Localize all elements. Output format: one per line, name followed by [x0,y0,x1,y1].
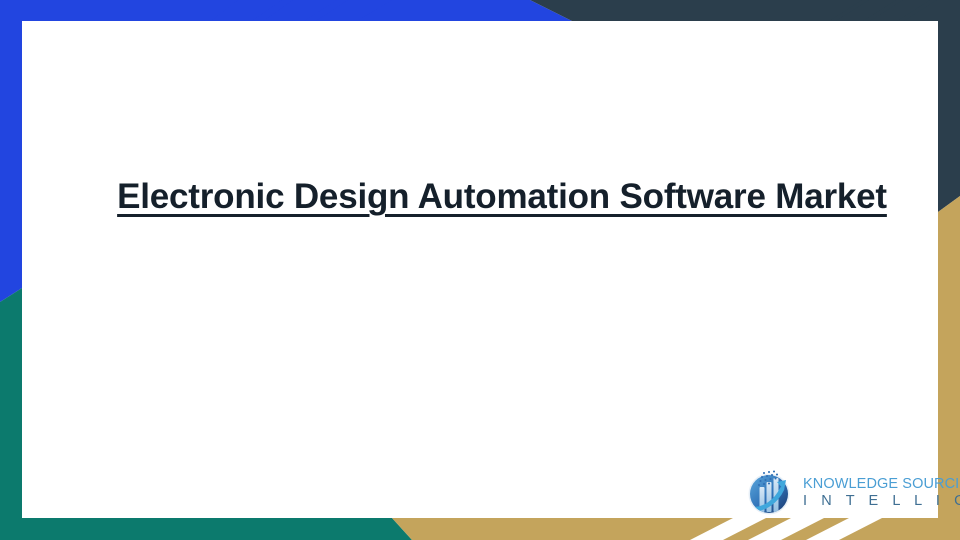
top-left-blue-band [0,0,572,21]
left-teal-band [0,288,22,540]
bottom-right-gold-stripes [690,518,882,540]
bottom-left-teal-band [0,518,412,540]
slide-canvas: Electronic Design Automation Software Ma… [0,0,960,540]
right-navy-band [938,0,960,212]
left-blue-band [0,0,22,302]
logo-text-knowledge-sourcing: KNOWLEDGE SOURCING [803,476,960,493]
title-block: Electronic Design Automation Software Ma… [82,171,922,223]
logo-text-intelligence: I N T E L L I G E N C E [803,493,960,510]
knowledge-sourcing-globe-icon [744,467,794,517]
page-title: Electronic Design Automation Software Ma… [117,177,887,216]
bottom-right-gold-band [392,518,960,540]
content-panel: Electronic Design Automation Software Ma… [22,21,938,518]
logo-wordmark: KNOWLEDGE SOURCING I N T E L L I G E N C… [803,474,960,510]
brand-logo: KNOWLEDGE SOURCING I N T E L L I G E N C… [744,465,956,519]
top-right-navy-band [530,0,960,21]
